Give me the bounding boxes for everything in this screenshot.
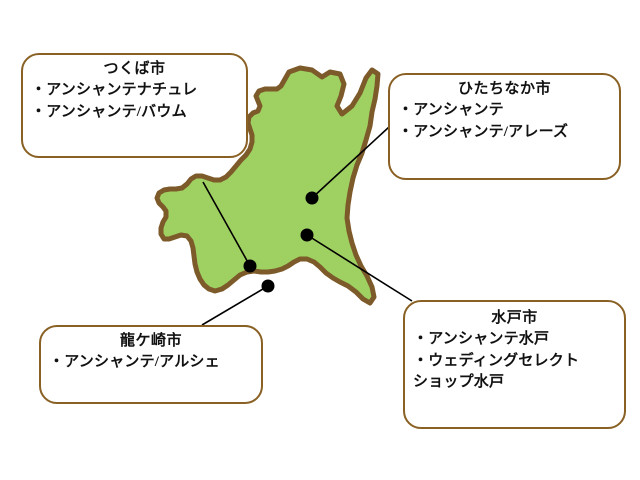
callout-hitachinaka[interactable]: ひたちなか市 ・アンシャンテ ・アンシャンテ/アレーズ	[388, 73, 621, 180]
callout-hitachinaka-title: ひたちなか市	[398, 79, 611, 100]
callout-ryugasaki-item-1: ・アンシャンテ/アルシェ	[49, 352, 253, 373]
marker-ryugasaki-dot[interactable]	[262, 280, 275, 293]
callout-tsukuba[interactable]: つくば市 ・アンシャンテナチュレ ・アンシャンテ/バウム	[21, 53, 248, 158]
figure-canvas: つくば市 ・アンシャンテナチュレ ・アンシャンテ/バウム ひたちなか市 ・アンシ…	[0, 0, 640, 480]
marker-tsukuba-dot[interactable]	[244, 260, 257, 273]
callout-tsukuba-item-1: ・アンシャンテナチュレ	[31, 80, 238, 101]
callout-ryugasaki[interactable]: 龍ケ崎市 ・アンシャンテ/アルシェ	[39, 325, 263, 404]
callout-hitachinaka-item-1: ・アンシャンテ	[398, 100, 611, 121]
marker-hitachinaka-dot[interactable]	[306, 192, 319, 205]
callout-mito-item-1: ・アンシャンテ水戸	[413, 329, 616, 350]
callout-tsukuba-title: つくば市	[31, 59, 238, 80]
callout-hitachinaka-item-2: ・アンシャンテ/アレーズ	[398, 122, 611, 143]
callout-ryugasaki-title: 龍ケ崎市	[49, 331, 253, 352]
callout-mito-item-2-continued: ショップ水戸	[413, 372, 616, 393]
callout-mito-title: 水戸市	[413, 308, 616, 329]
callout-tsukuba-item-2: ・アンシャンテ/バウム	[31, 102, 238, 123]
callout-mito-item-2: ・ウェディングセレクト	[413, 351, 616, 372]
marker-mito-dot[interactable]	[301, 229, 314, 242]
callout-mito[interactable]: 水戸市 ・アンシャンテ水戸 ・ウェディングセレクト ショップ水戸	[403, 300, 626, 429]
